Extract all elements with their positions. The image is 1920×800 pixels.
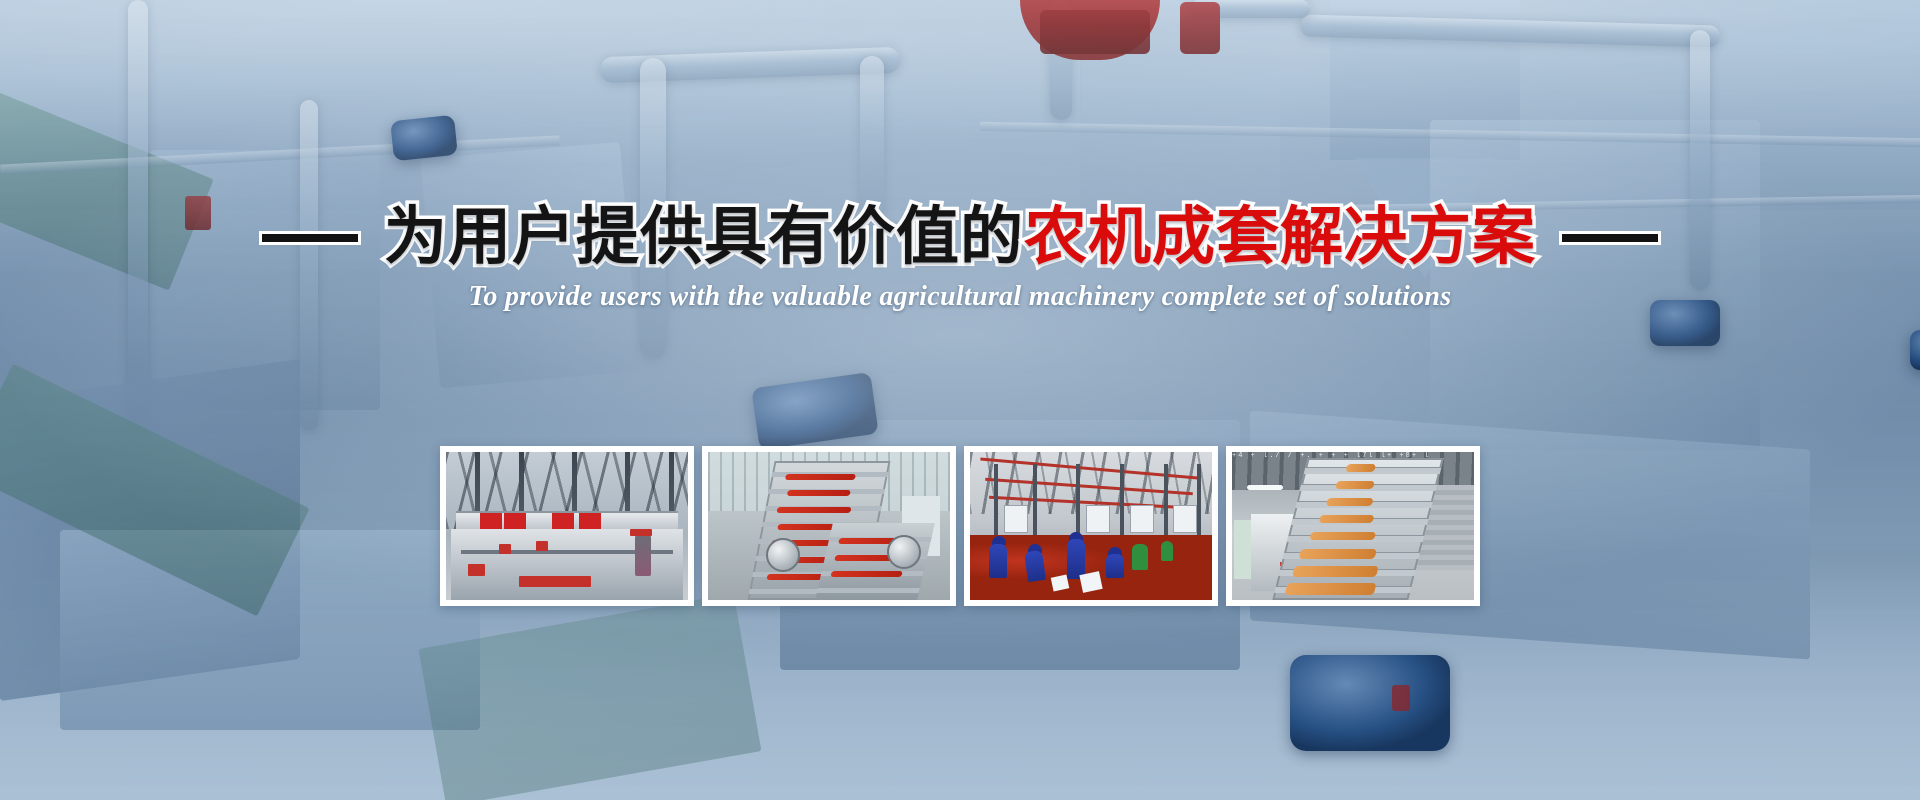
thumb-workers-chili[interactable] xyxy=(964,446,1218,606)
hero-banner: 为用户提供具有价值的农机成套解决方案 To provide users with… xyxy=(0,0,1920,800)
thumb-drying-line[interactable] xyxy=(440,446,694,606)
headline-text: 为用户提供具有价值的农机成套解决方案 xyxy=(384,206,1536,269)
headline-row: 为用户提供具有价值的农机成套解决方案 xyxy=(0,206,1920,269)
subtitle-text: To provide users with the valuable agric… xyxy=(0,281,1920,313)
thumb-potato-conveyor[interactable]: +4 + l./ / +. + + + l7l l+ +8+ l xyxy=(1226,446,1480,606)
thumb-belt-elevator[interactable] xyxy=(702,446,956,606)
thumbnail-strip: +4 + l./ / +. + + + l7l l+ +8+ l xyxy=(0,446,1920,606)
headline-dark-part: 为用户提供具有价值的 xyxy=(384,202,1024,272)
headline-right-rule xyxy=(1562,234,1658,242)
headline-accent-part: 农机成套解决方案 xyxy=(1024,202,1536,272)
headline-left-rule xyxy=(262,234,358,242)
